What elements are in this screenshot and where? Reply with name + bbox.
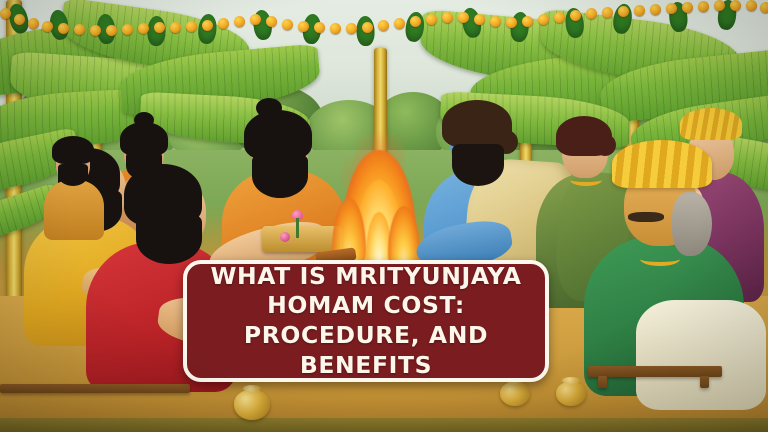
necklace xyxy=(640,252,680,266)
figure-sage-small-back xyxy=(44,136,106,226)
thumbnail-image: What is Mrityunjaya Homam Cost: Procedur… xyxy=(0,0,768,432)
offering-flower xyxy=(280,232,290,242)
kalash-pot-right xyxy=(556,382,586,406)
marigold-garland xyxy=(0,0,768,48)
figure-king-turban xyxy=(584,140,764,390)
title-banner: What is Mrityunjaya Homam Cost: Procedur… xyxy=(183,260,549,382)
floor-edge-band xyxy=(0,418,768,432)
banner-line-1: What is Mrityunjaya xyxy=(199,262,533,292)
offering-tray xyxy=(262,226,342,252)
offering-stem xyxy=(296,218,299,238)
banner-line-3: Procedure, and Benefits xyxy=(199,321,533,380)
moustache xyxy=(628,212,664,222)
hair-grey xyxy=(672,192,712,256)
floor-plank xyxy=(0,384,190,393)
kalash-pot-center xyxy=(500,382,530,406)
kalash-pot-left xyxy=(234,390,270,420)
turban-icon xyxy=(612,140,712,188)
turban-icon xyxy=(680,108,742,140)
banner-line-2: Homam Cost: xyxy=(199,291,533,321)
wooden-bench-leg xyxy=(700,376,709,388)
banner-text-block: What is Mrityunjaya Homam Cost: Procedur… xyxy=(199,262,533,380)
wooden-bench-leg xyxy=(598,376,607,388)
